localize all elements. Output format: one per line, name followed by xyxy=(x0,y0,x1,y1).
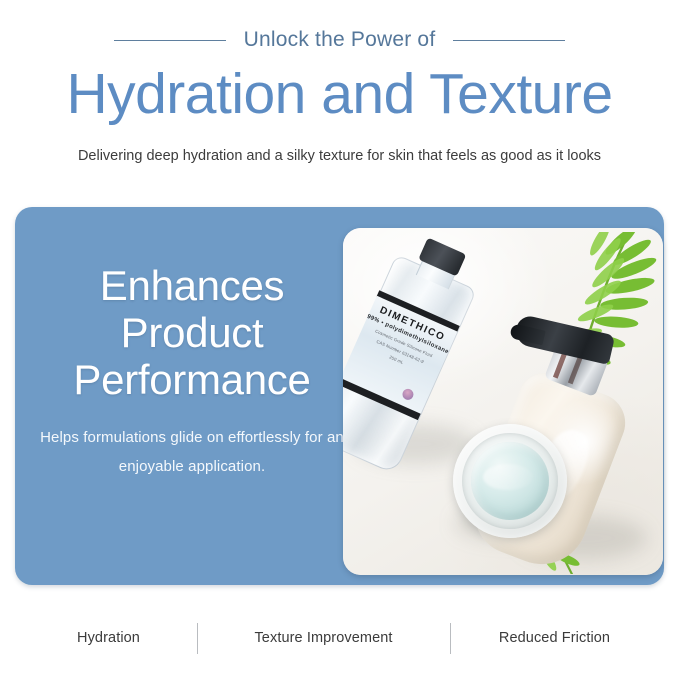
header: Unlock the Power of Hydration and Textur… xyxy=(0,0,679,200)
feature-panel: Enhances Product Performance Helps formu… xyxy=(15,207,664,585)
eyebrow-rule-right xyxy=(453,40,565,41)
footer-divider-1 xyxy=(197,623,198,654)
footer-item-texture-improvement: Texture Improvement xyxy=(226,630,422,646)
glass-cream-jar xyxy=(453,424,567,538)
bottle-label-seal-icon xyxy=(401,387,416,402)
jar-cream-swirl xyxy=(483,464,533,490)
eyebrow-text: Unlock the Power of xyxy=(244,28,436,52)
eyebrow-row: Unlock the Power of xyxy=(0,28,679,52)
product-photo-card: DIMETHICO 99% • polydimethylsiloxane Cos… xyxy=(343,228,663,575)
footer-benefits: Hydration Texture Improvement Reduced Fr… xyxy=(0,614,679,662)
bottle-label-volume: 250 mL xyxy=(389,354,405,365)
page-title: Hydration and Texture xyxy=(0,62,679,128)
footer-item-hydration: Hydration xyxy=(49,630,169,646)
page-subtitle: Delivering deep hydration and a silky te… xyxy=(67,143,612,170)
eyebrow-rule-left xyxy=(114,40,226,41)
feature-body: Helps formulations glide on effortlessly… xyxy=(39,423,345,482)
footer-item-reduced-friction: Reduced Friction xyxy=(479,630,631,646)
feature-panel-text: Enhances Product Performance Helps formu… xyxy=(33,262,351,482)
feature-headline: Enhances Product Performance xyxy=(39,262,345,403)
footer-divider-2 xyxy=(450,623,451,654)
